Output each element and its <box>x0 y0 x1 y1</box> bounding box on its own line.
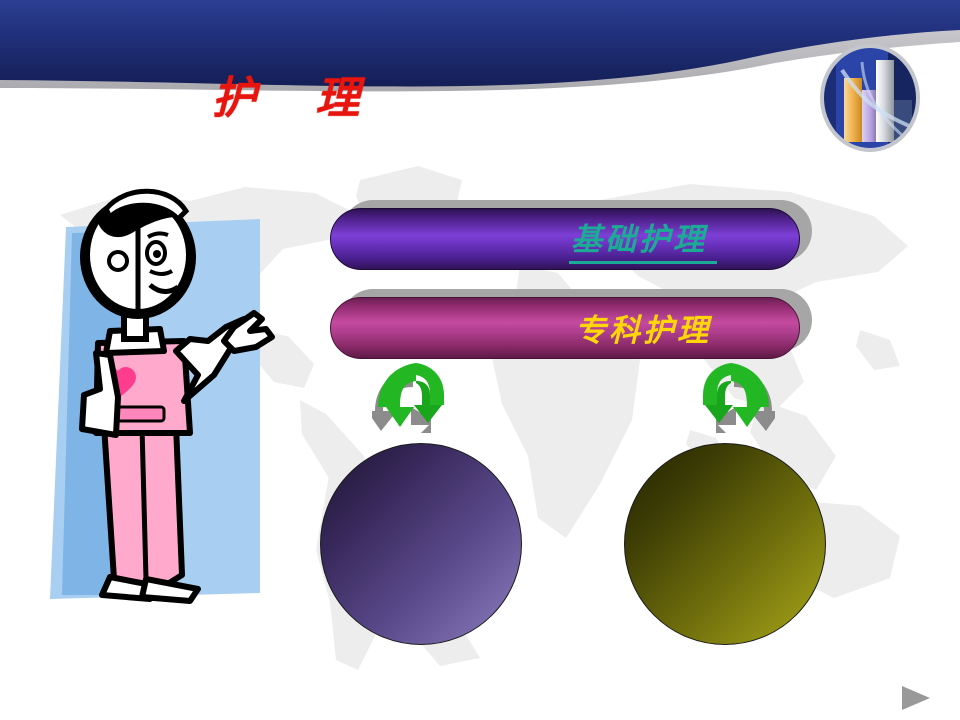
nurse-illustration <box>38 175 288 645</box>
specialty-nursing-button-label: 专科护理 <box>573 305 713 352</box>
circle-olive[interactable] <box>624 443 826 645</box>
slide-canvas: 护 理 <box>0 0 960 720</box>
circle-purple[interactable] <box>320 443 522 645</box>
curved-arrow-right-icon <box>697 363 775 433</box>
presentation-emblem-icon <box>818 42 922 154</box>
specialty-nursing-button[interactable]: 专科护理 <box>330 297 800 359</box>
page-title: 护 理 <box>212 62 472 126</box>
basic-nursing-button[interactable]: 基础护理 <box>330 208 800 270</box>
curved-arrow-left-icon <box>372 363 450 433</box>
next-slide-button[interactable] <box>898 684 932 712</box>
basic-nursing-button-label: 基础护理 <box>569 214 717 264</box>
header-band <box>0 0 960 160</box>
